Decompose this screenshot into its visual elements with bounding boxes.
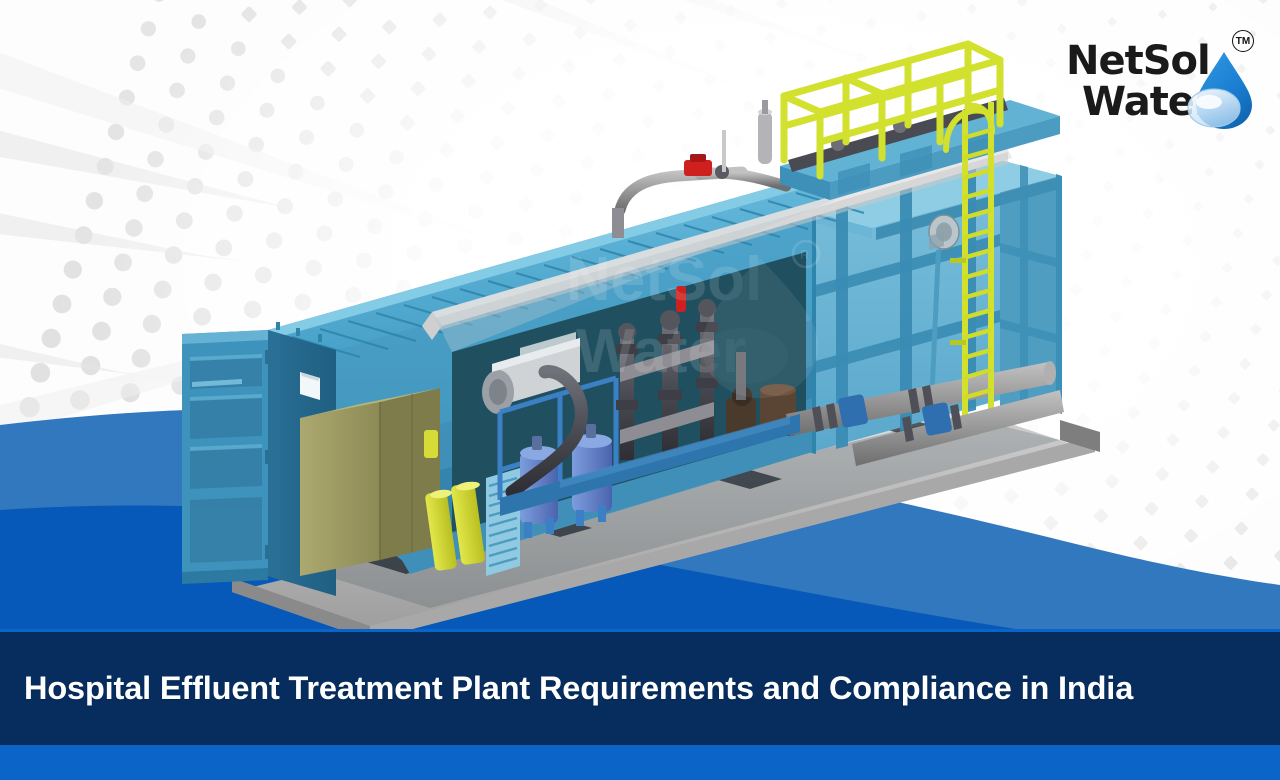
svg-text:R: R [800, 247, 809, 262]
title-band-rule [0, 629, 1280, 632]
accent-strip-bottom [0, 745, 1280, 780]
page-title: Hospital Effluent Treatment Plant Requir… [0, 672, 1133, 705]
brand-logo[interactable]: NetSol Water TM [1062, 30, 1262, 134]
title-band: Hospital Effluent Treatment Plant Requir… [0, 632, 1280, 745]
banner-canvas: NetSol Water R NetSol Water TM [0, 0, 1280, 780]
water-droplet-icon [1184, 48, 1258, 132]
